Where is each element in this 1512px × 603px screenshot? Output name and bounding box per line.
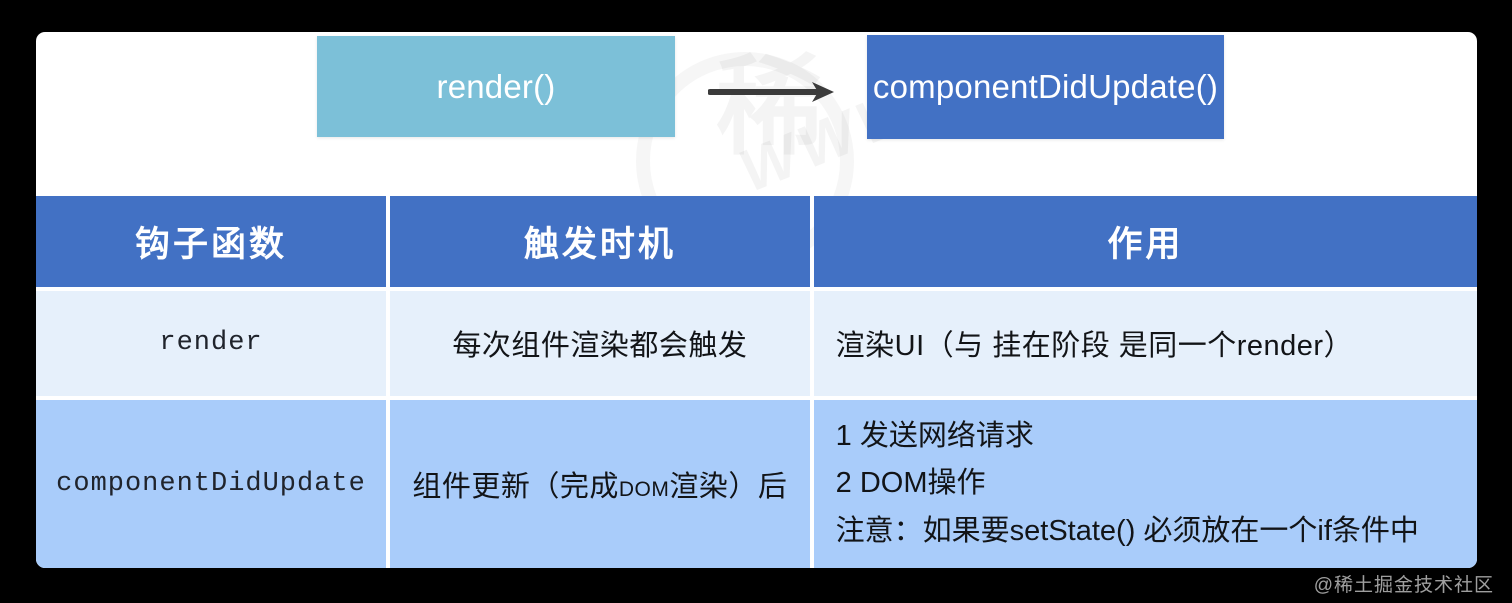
cell-effect-render: 渲染UI（与 挂在阶段 是同一个render） <box>814 291 1477 396</box>
column-header-timing: 触发时机 <box>390 196 810 287</box>
timing-part-dom: DOM <box>619 478 670 501</box>
table-header-row: 钩子函数 触发时机 作用 <box>36 196 1477 287</box>
timing-part-before: 组件更新（完成 <box>412 471 619 503</box>
cell-effect-component-did-update: 1 发送网络请求 2 DOM操作 注意：如果要setState() 必须放在一个… <box>814 400 1477 568</box>
column-header-hook: 钩子函数 <box>36 196 386 287</box>
table-row: componentDidUpdate 组件更新（完成DOM渲染）后 1 发送网络… <box>36 400 1477 568</box>
effect-line: 1 发送网络请求 <box>836 420 1477 453</box>
cell-timing-render: 每次组件渲染都会触发 <box>390 291 810 396</box>
lifecycle-diagram: render() componentDidUpdate() <box>36 32 1477 196</box>
effect-line: 注意：如果要setState() 必须放在一个if条件中 <box>836 515 1477 548</box>
effect-line: 2 DOM操作 <box>836 467 1477 500</box>
hook-name-render: render <box>159 328 262 358</box>
lifecycle-table: 钩子函数 触发时机 作用 render 每次组件渲染都会触发 渲染UI（与 挂在… <box>36 196 1477 568</box>
timing-part-after: 渲染）后 <box>669 471 787 503</box>
cell-timing-component-did-update: 组件更新（完成DOM渲染）后 <box>390 400 810 568</box>
flow-node-component-did-update-label: componentDidUpdate() <box>873 68 1218 106</box>
flow-node-render-label: render() <box>437 68 556 106</box>
credit-watermark: @稀土掘金技术社区 <box>1314 570 1494 597</box>
slide-card: 稀 WWW render() componentDidUpdate() 钩子函数… <box>36 32 1477 568</box>
hook-name-component-did-update: componentDidUpdate <box>56 469 366 499</box>
timing-text-render: 每次组件渲染都会触发 <box>452 322 747 364</box>
arrow-right-icon <box>708 80 836 104</box>
cell-hook-component-did-update: componentDidUpdate <box>36 400 386 568</box>
effect-list: 1 发送网络请求 2 DOM操作 注意：如果要setState() 必须放在一个… <box>836 420 1477 548</box>
cell-hook-render: render <box>36 291 386 396</box>
timing-text-component-did-update: 组件更新（完成DOM渲染）后 <box>412 463 787 505</box>
flow-node-component-did-update[interactable]: componentDidUpdate() <box>867 35 1224 139</box>
flow-node-render[interactable]: render() <box>317 36 675 137</box>
column-header-effect: 作用 <box>814 196 1477 287</box>
effect-text-render: 渲染UI（与 挂在阶段 是同一个render） <box>836 322 1353 364</box>
table-row: render 每次组件渲染都会触发 渲染UI（与 挂在阶段 是同一个render… <box>36 291 1477 396</box>
